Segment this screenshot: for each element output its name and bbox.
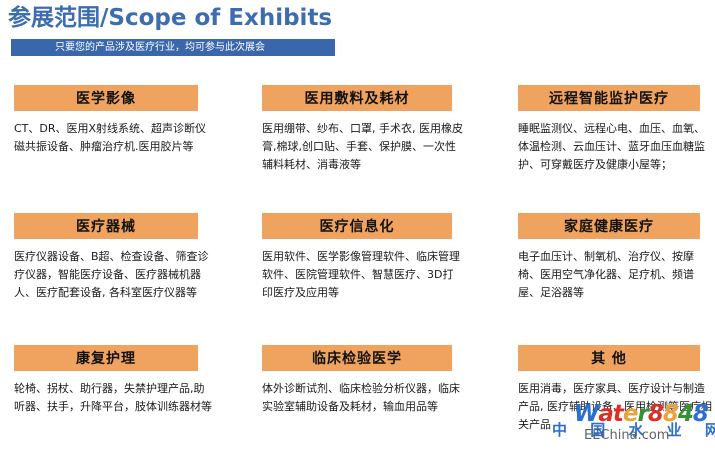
scope-card-body: 医用软件、医学影像管理软件、临床管理软件、医院管理软件、智慧医疗、3D打印医疗及… <box>262 248 464 302</box>
scope-card-title: 家庭健康医疗 <box>564 216 654 236</box>
scope-card-header: 远程智能监护医疗 <box>518 85 700 111</box>
scope-card[interactable]: 临床检验医学 体外诊断试剂、临床检验分析仪器，临床实验室辅助设备及耗材，输血用品… <box>262 345 452 416</box>
scope-card-body: CT、DR、医用X射线系统、超声诊断仪磁共振设备、肿瘤治疗机.医用胶片等 <box>14 120 214 156</box>
scope-card-header: 医疗器械 <box>14 213 198 239</box>
scope-card-header: 康复护理 <box>14 345 198 371</box>
scope-card[interactable]: 家庭健康医疗 电子血压计、制氧机、治疗仪、按摩椅、医用空气净化器、足疗机、频谱屋… <box>518 213 700 302</box>
scope-card[interactable]: 康复护理 轮椅、拐杖、助行器，失禁护理产品,助听器、扶手，升降平台，肢体训练器材… <box>14 345 198 416</box>
scope-card-title: 康复护理 <box>76 348 136 368</box>
scope-card-title: 医疗器械 <box>76 216 136 236</box>
scope-card-header: 其 他 <box>518 345 700 371</box>
scope-card-header: 临床检验医学 <box>262 345 452 371</box>
scope-card-body: 睡眠监测仪、远程心电、血压、血氧、体温检测、云血压计、蓝牙血压血糖监护、可穿戴医… <box>518 120 714 174</box>
subtitle-text: 只要您的产品涉及医疗行业，均可参与此次展会 <box>55 41 265 54</box>
scope-card[interactable]: 医疗信息化 医用软件、医学影像管理软件、临床管理软件、医院管理软件、智慧医疗、3… <box>262 213 452 302</box>
scope-card-header: 医用敷料及耗材 <box>262 85 452 111</box>
scope-card-body: 电子血压计、制氧机、治疗仪、按摩椅、医用空气净化器、足疗机、频谱屋、足浴器等 <box>518 248 714 302</box>
scope-cards-grid: 医学影像 CT、DR、医用X射线系统、超声诊断仪磁共振设备、肿瘤治疗机.医用胶片… <box>0 80 715 450</box>
scope-card-title: 临床检验医学 <box>312 348 402 368</box>
scope-card-title: 医学影像 <box>76 88 136 108</box>
scope-card-body: 体外诊断试剂、临床检验分析仪器，临床实验室辅助设备及耗材，输血用品等 <box>262 380 464 416</box>
scope-card-title: 医用敷料及耗材 <box>305 88 410 108</box>
scope-card-header: 医疗信息化 <box>262 213 452 239</box>
scope-card[interactable]: 其 他 医用消毒，医疗家具、医疗设计与制造产品, 医疗辅助设备、医用检测等医疗相… <box>518 345 700 434</box>
scope-card-body: 轮椅、拐杖、助行器，失禁护理产品,助听器、扶手，升降平台，肢体训练器材等 <box>14 380 214 416</box>
scope-card-title: 远程智能监护医疗 <box>549 88 669 108</box>
scope-card-body: 医疗仪器设备、B超、检查设备、筛查诊疗仪器，智能医疗设备、医疗器械机器人、医疗配… <box>14 248 214 302</box>
scope-card-title: 其 他 <box>591 348 627 368</box>
scope-card[interactable]: 医用敷料及耗材 医用绷带、纱布、口罩, 手术衣, 医用橡皮膏,棉球,创口贴、手套… <box>262 85 452 174</box>
scope-card-body: 医用消毒，医疗家具、医疗设计与制造产品, 医疗辅助设备、医用检测等医疗相关产品 <box>518 380 714 434</box>
scope-card-header: 医学影像 <box>14 85 198 111</box>
page-title: 参展范围/Scope of Exhibits <box>8 4 332 32</box>
scope-card-header: 家庭健康医疗 <box>518 213 700 239</box>
scope-card-body: 医用绷带、纱布、口罩, 手术衣, 医用橡皮膏,棉球,创口贴、手套、保护膜、一次性… <box>262 120 464 174</box>
scope-card[interactable]: 医疗器械 医疗仪器设备、B超、检查设备、筛查诊疗仪器，智能医疗设备、医疗器械机器… <box>14 213 198 302</box>
scope-card[interactable]: 医学影像 CT、DR、医用X射线系统、超声诊断仪磁共振设备、肿瘤治疗机.医用胶片… <box>14 85 198 156</box>
scope-card-title: 医疗信息化 <box>320 216 395 236</box>
scope-card[interactable]: 远程智能监护医疗 睡眠监测仪、远程心电、血压、血氧、体温检测、云血压计、蓝牙血压… <box>518 85 700 174</box>
